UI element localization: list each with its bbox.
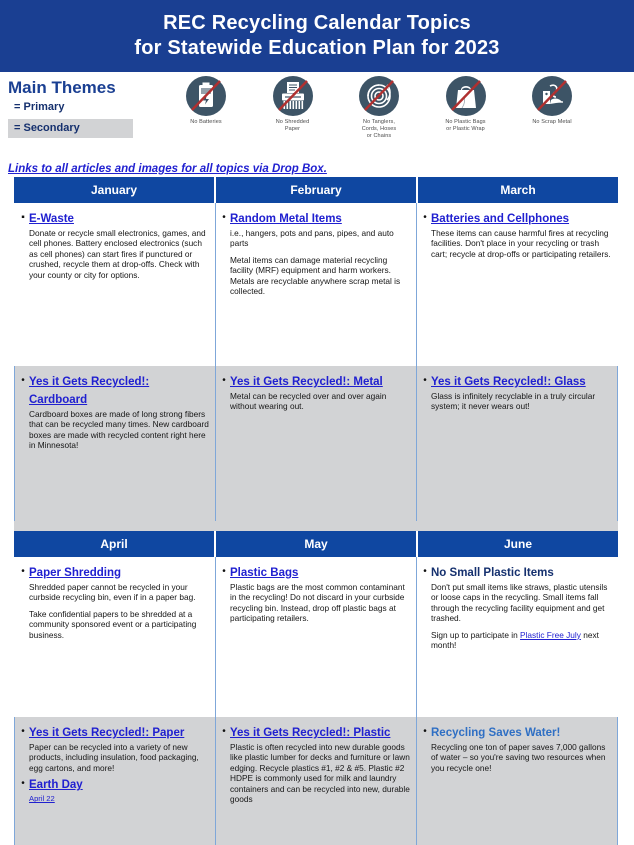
title-line-1: REC Recycling Calendar Topics: [163, 11, 471, 36]
bullet-marker: •: [419, 209, 431, 259]
dropbox-links-link[interactable]: Links to all articles and images for all…: [8, 163, 327, 175]
list-item: • No Small Plastic Items Don't put small…: [419, 563, 611, 650]
cell-march-primary: • Batteries and Cellphones These items c…: [417, 203, 618, 366]
icon-label-line: Paper: [257, 126, 329, 133]
title-line-2: for Statewide Education Plan for 2023: [134, 36, 499, 61]
list-item: • Yes it Gets Recycled!: Glass Glass is …: [419, 372, 611, 412]
bullet-marker: •: [218, 372, 230, 412]
icon-label-no-scrap-metal: No Scrap Metal: [516, 119, 588, 126]
bullet-marker: •: [419, 372, 431, 412]
icon-item-no-batteries: No Batteries: [170, 74, 242, 126]
icon-label-no-batteries: No Batteries: [170, 119, 242, 126]
themes-strip: Main Themes = Primary = Secondary No Bat…: [0, 72, 634, 177]
topic-description: Plastic is often recycled into new durab…: [230, 742, 410, 804]
month-header-june: June: [418, 531, 618, 557]
icon-label-line: or Plastic Wrap: [430, 126, 502, 133]
topic-description: Paper can be recycled into a variety of …: [29, 742, 209, 773]
icon-item-no-plastic-bags: No Plastic Bags or Plastic Wrap: [430, 74, 502, 133]
icon-label-line: Cords, Hoses: [343, 126, 415, 133]
bullet-marker: •: [17, 723, 29, 773]
no-plastic-bags-icon: [444, 74, 488, 118]
title-banner: REC Recycling Calendar Topics for Statew…: [0, 0, 634, 72]
bullet-marker: •: [218, 563, 230, 624]
earth-day-date-link[interactable]: April 22: [29, 794, 209, 803]
topic-link-yes-it-gets-recycled-cardboard[interactable]: Yes it Gets Recycled!: Cardboard: [29, 376, 149, 406]
month-header-march: March: [418, 177, 618, 203]
month-header-january: January: [14, 177, 216, 203]
topic-description: Glass is infinitely recyclable in a trul…: [431, 391, 611, 412]
topic-description: Donate or recycle small electronics, gam…: [29, 228, 209, 280]
topic-link-plastic-bags[interactable]: Plastic Bags: [230, 567, 298, 579]
cell-february-secondary: • Yes it Gets Recycled!: Metal Metal can…: [216, 366, 417, 521]
icon-item-no-shredded-paper: No Shredded Paper: [257, 74, 329, 133]
cell-april-primary: • Paper Shredding Shredded paper cannot …: [14, 557, 216, 717]
topic-link-yes-it-gets-recycled-glass[interactable]: Yes it Gets Recycled!: Glass: [431, 376, 586, 388]
icon-label-line: No Scrap Metal: [516, 119, 588, 126]
topic-link-random-metal-items[interactable]: Random Metal Items: [230, 213, 342, 225]
list-item: • Batteries and Cellphones These items c…: [419, 209, 611, 259]
topic-link-earth-day[interactable]: Earth Day: [29, 779, 83, 791]
list-item: • Recycling Saves Water! Recycling one t…: [419, 723, 611, 773]
month-header-row-q1: January February March: [14, 177, 618, 203]
icon-label-no-plastic-bags: No Plastic Bags or Plastic Wrap: [430, 119, 502, 133]
icon-item-no-tanglers: No Tanglers, Cords, Hoses or Chains: [343, 74, 415, 140]
cell-february-primary: • Random Metal Items i.e., hangers, pots…: [216, 203, 417, 366]
cell-april-secondary: • Yes it Gets Recycled!: Paper Paper can…: [14, 717, 216, 845]
topic-link-yes-it-gets-recycled-metal[interactable]: Yes it Gets Recycled!: Metal: [230, 376, 383, 388]
no-scrap-metal-icon: [530, 74, 574, 118]
cell-june-secondary: • Recycling Saves Water! Recycling one t…: [417, 717, 618, 845]
primary-row-q1: ▪ E-Waste Donate or recycle small electr…: [14, 203, 618, 366]
list-item: • Yes it Gets Recycled!: Metal Metal can…: [218, 372, 410, 412]
topic-description-2: Take confidential papers to be shredded …: [29, 609, 209, 640]
topic-description: Plastic bags are the most common contami…: [230, 582, 410, 624]
primary-row-q2: • Paper Shredding Shredded paper cannot …: [14, 557, 618, 717]
legend-primary: = Primary: [8, 98, 173, 117]
calendar: January February March ▪ E-Waste Donate …: [0, 177, 634, 845]
icon-label-line: No Tanglers,: [343, 119, 415, 126]
desc-text-pre: Sign up to participate in: [431, 630, 520, 640]
secondary-row-q2: • Yes it Gets Recycled!: Paper Paper can…: [14, 717, 618, 845]
icon-label-no-shredded-paper: No Shredded Paper: [257, 119, 329, 133]
no-shredded-paper-icon: [271, 74, 315, 118]
list-item: • Yes it Gets Recycled!: Paper Paper can…: [17, 723, 209, 773]
bullet-marker: •: [17, 775, 29, 803]
row-spacer: [14, 521, 618, 531]
month-header-may: May: [216, 531, 418, 557]
bullet-marker: •: [419, 563, 431, 650]
cell-may-primary: • Plastic Bags Plastic bags are the most…: [216, 557, 417, 717]
topic-description: These items can cause harmful fires at r…: [431, 228, 611, 259]
icon-label-line: No Plastic Bags: [430, 119, 502, 126]
no-tanglers-icon: [357, 74, 401, 118]
list-item: • Plastic Bags Plastic bags are the most…: [218, 563, 410, 624]
legend-heading: Main Themes: [8, 78, 173, 98]
topic-description: Recycling one ton of paper saves 7,000 g…: [431, 742, 611, 773]
cell-january-primary: ▪ E-Waste Donate or recycle small electr…: [14, 203, 216, 366]
list-item: • Random Metal Items i.e., hangers, pots…: [218, 209, 410, 296]
topic-description: i.e., hangers, pots and pans, pipes, and…: [230, 228, 410, 249]
bullet-marker: •: [218, 209, 230, 296]
list-item: • Paper Shredding Shredded paper cannot …: [17, 563, 209, 640]
topic-description: Don't put small items like straws, plast…: [431, 582, 611, 624]
topic-heading-no-small-plastic-items: No Small Plastic Items: [431, 567, 554, 579]
list-item: • Yes it Gets Recycled!: Cardboard Cardb…: [17, 372, 209, 451]
topic-link-paper-shredding[interactable]: Paper Shredding: [29, 567, 121, 579]
no-batteries-icon: [184, 74, 228, 118]
month-header-april: April: [14, 531, 216, 557]
bullet-marker: •: [218, 723, 230, 804]
bullet-marker: •: [17, 372, 29, 451]
topic-description: Shredded paper cannot be recycled in you…: [29, 582, 209, 603]
topic-link-e-waste[interactable]: E-Waste: [29, 213, 74, 225]
icon-label-line: or Chains: [343, 133, 415, 140]
topic-link-yes-it-gets-recycled-paper[interactable]: Yes it Gets Recycled!: Paper: [29, 727, 184, 739]
icon-label-line: No Shredded: [257, 119, 329, 126]
topic-description-2: Metal items can damage material recyclin…: [230, 255, 410, 297]
cell-may-secondary: • Yes it Gets Recycled!: Plastic Plastic…: [216, 717, 417, 845]
topic-link-batteries-and-cellphones[interactable]: Batteries and Cellphones: [431, 213, 569, 225]
month-header-february: February: [216, 177, 418, 203]
icon-row: No Batteries: [170, 74, 588, 140]
list-item: • Yes it Gets Recycled!: Plastic Plastic…: [218, 723, 410, 804]
topic-link-yes-it-gets-recycled-plastic[interactable]: Yes it Gets Recycled!: Plastic: [230, 727, 390, 739]
topic-description: Metal can be recycled over and over agai…: [230, 391, 410, 412]
list-item: • Earth Day April 22: [17, 775, 209, 803]
list-item: ▪ E-Waste Donate or recycle small electr…: [17, 209, 209, 280]
month-header-row-q2: April May June: [14, 531, 618, 557]
main-themes-legend: Main Themes = Primary = Secondary: [8, 78, 173, 138]
icon-label-no-tanglers: No Tanglers, Cords, Hoses or Chains: [343, 119, 415, 140]
topic-description: Cardboard boxes are made of long strong …: [29, 409, 209, 451]
topic-heading-recycling-saves-water: Recycling Saves Water!: [431, 727, 560, 739]
bullet-marker: ▪: [17, 209, 29, 280]
legend-secondary: = Secondary: [8, 119, 133, 138]
icon-item-no-scrap-metal: No Scrap Metal: [516, 74, 588, 126]
secondary-row-q1: • Yes it Gets Recycled!: Cardboard Cardb…: [14, 366, 618, 521]
cell-june-primary: • No Small Plastic Items Don't put small…: [417, 557, 618, 717]
bullet-marker: •: [419, 723, 431, 773]
bullet-marker: •: [17, 563, 29, 640]
plastic-free-july-link[interactable]: Plastic Free July: [520, 630, 581, 640]
cell-january-secondary: • Yes it Gets Recycled!: Cardboard Cardb…: [14, 366, 216, 521]
topic-description-2: Sign up to participate in Plastic Free J…: [431, 630, 611, 651]
cell-march-secondary: • Yes it Gets Recycled!: Glass Glass is …: [417, 366, 618, 521]
